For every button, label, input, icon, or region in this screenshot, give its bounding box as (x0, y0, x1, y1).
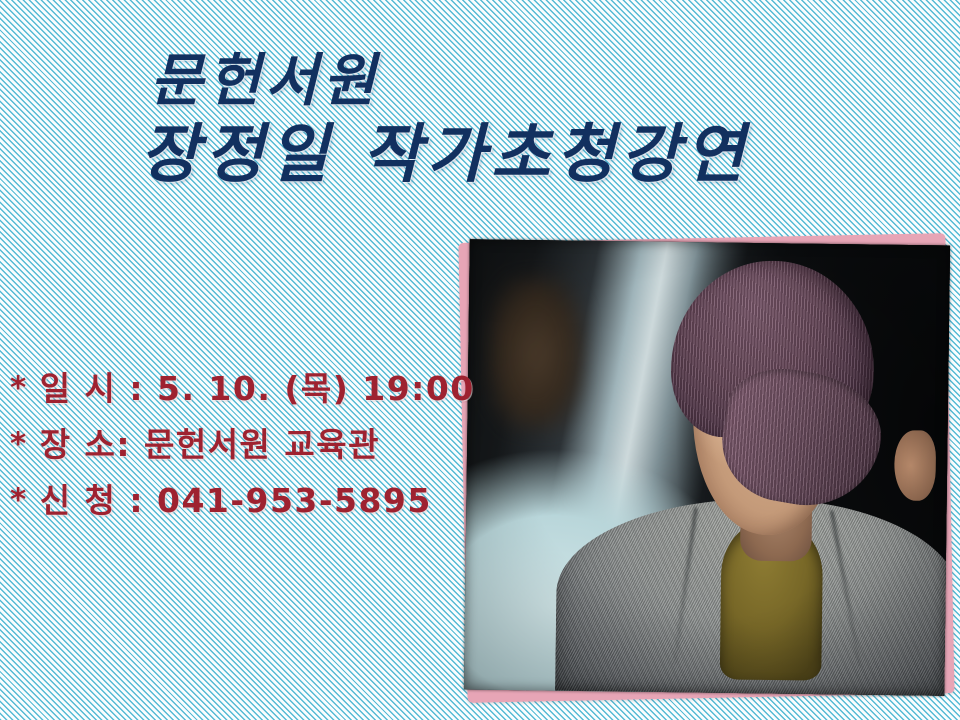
title-line-event: 장정일 작가초청강연 (0, 120, 840, 192)
photo-frame (458, 233, 954, 703)
detail-text-datetime: 일 시 : 5. 10. (목) 19:00 (40, 372, 475, 405)
detail-row-registration: * 신 청 : 041-953-5895 (10, 484, 475, 518)
poster-canvas: 문헌서원 장정일 작가초청강연 * 일 시 : 5. 10. (목) 19:00… (0, 0, 960, 720)
poster-title: 문헌서원 장정일 작가초청강연 (0, 52, 840, 192)
photo-background-board (487, 276, 585, 430)
ear (894, 430, 936, 501)
asterisk-icon: * (10, 485, 28, 516)
asterisk-icon: * (10, 373, 28, 404)
detail-text-registration: 신 청 : 041-953-5895 (40, 484, 432, 517)
detail-row-location: * 장 소: 문헌서원 교육관 (10, 428, 475, 462)
title-line-venue: 문헌서원 (0, 52, 840, 110)
speaker-photo (464, 239, 950, 695)
asterisk-icon: * (10, 429, 28, 460)
detail-row-datetime: * 일 시 : 5. 10. (목) 19:00 (10, 372, 475, 406)
photo-subject (570, 250, 950, 696)
event-details-list: * 일 시 : 5. 10. (목) 19:00 * 장 소: 문헌서원 교육관… (10, 372, 475, 540)
detail-text-location: 장 소: 문헌서원 교육관 (40, 428, 380, 461)
